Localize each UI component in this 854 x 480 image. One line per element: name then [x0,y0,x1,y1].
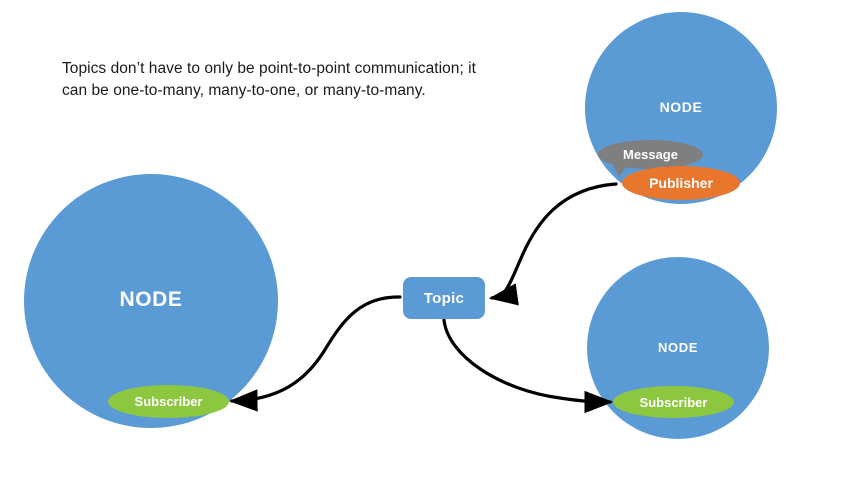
arrow-topic-to-subscriber-bottom-right [444,320,610,402]
publisher-label: Publisher [649,175,713,191]
caption-text: Topics don’t have to only be point-to-po… [62,58,482,103]
slide-canvas: Topics don’t have to only be point-to-po… [0,0,854,480]
message-label: Message [623,147,678,162]
topic-label: Topic [424,290,464,307]
publisher-ellipse: Publisher [622,166,740,200]
subscriber-label-left: Subscriber [135,394,203,409]
subscriber-label-bottom-right: Subscriber [640,395,708,410]
node-label-top-right: NODE [585,99,777,115]
subscriber-ellipse-left: Subscriber [108,385,229,418]
topic-box: Topic [403,277,485,319]
arrow-publisher-to-topic [492,184,616,298]
node-label-left: NODE [24,288,278,312]
node-label-bottom-right: NODE [587,340,769,355]
subscriber-ellipse-bottom-right: Subscriber [613,386,734,418]
